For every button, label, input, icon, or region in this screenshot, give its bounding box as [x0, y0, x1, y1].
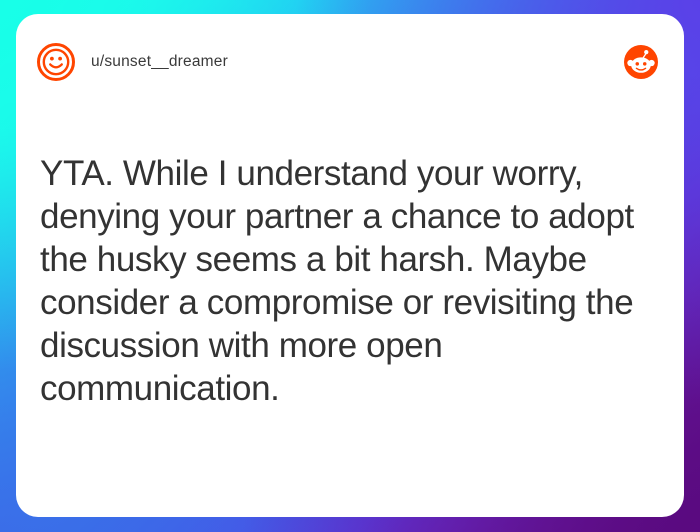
comment-card: u/sunset__dreamer [16, 14, 684, 517]
smiley-face-avatar-icon[interactable] [36, 42, 76, 82]
gradient-backdrop: u/sunset__dreamer [0, 0, 700, 532]
reddit-snoo-logo-icon[interactable] [624, 45, 658, 79]
username-label[interactable]: u/sunset__dreamer [91, 53, 228, 71]
comment-body: YTA. While I understand your worry, deny… [40, 152, 640, 410]
card-header: u/sunset__dreamer [16, 14, 684, 110]
comment-text: YTA. While I understand your worry, deny… [40, 152, 640, 410]
